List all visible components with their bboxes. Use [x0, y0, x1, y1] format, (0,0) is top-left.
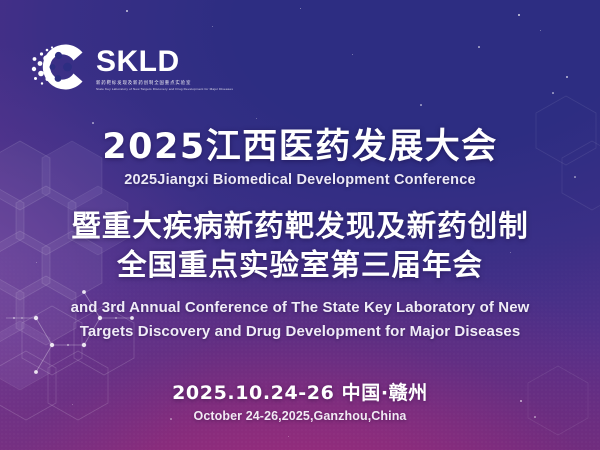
conference-poster: SKLD 新药靶标发现及新药创制全国重点实验室 State Key Labora… — [0, 0, 600, 450]
subtitle-en-line1: and 3rd Annual Conference of The State K… — [0, 296, 600, 319]
date-location-en: October 24-26,2025,Ganzhou,China — [0, 409, 600, 424]
main-title-en: 2025Jiangxi Biomedical Development Confe… — [0, 172, 600, 189]
skld-wordmark: SKLD — [96, 45, 180, 78]
main-title-cn: 2025江西医药发展大会 — [0, 128, 600, 167]
headline-block: 2025江西医药发展大会 2025Jiangxi Biomedical Deve… — [0, 128, 600, 343]
subtitle-en-block: and 3rd Annual Conference of The State K… — [0, 296, 600, 343]
skld-lab-name-cn: 新药靶标发现及新药创制全国重点实验室 — [96, 80, 233, 86]
footer-block: 2025.10.24-26 中国·赣州 October 24-26,2025,G… — [0, 382, 600, 424]
skld-molecular-c-icon — [28, 36, 90, 98]
skld-lab-name-en: State Key Laboratory of New Targets Disc… — [96, 87, 233, 91]
skld-logo-text-block: SKLD 新药靶标发现及新药创制全国重点实验室 State Key Labora… — [96, 43, 233, 91]
secondary-title-cn-line1: 暨重大疾病新药靶发现及新药创制 — [0, 207, 600, 246]
skld-logo: SKLD 新药靶标发现及新药创制全国重点实验室 State Key Labora… — [28, 36, 233, 98]
date-location-cn: 2025.10.24-26 中国·赣州 — [0, 382, 600, 405]
subtitle-en-line2: Targets Discovery and Drug Development f… — [0, 320, 600, 343]
secondary-title-cn-line2: 全国重点实验室第三届年会 — [0, 246, 600, 285]
